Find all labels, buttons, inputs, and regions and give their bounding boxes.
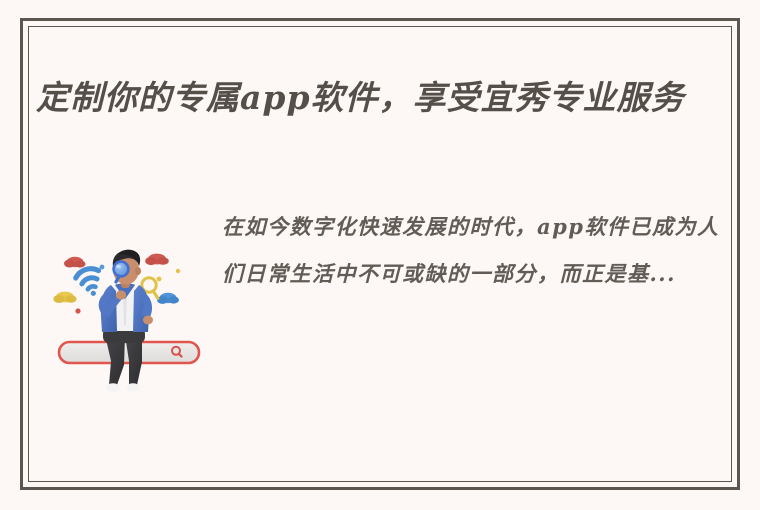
person-figure — [99, 250, 153, 392]
dot-yellow — [157, 277, 162, 282]
article-excerpt: 在如今数字化快速发展的时代，app软件已成为人们日常生活中不可或缺的一部分，而正… — [222, 203, 738, 298]
dot-blue — [100, 265, 105, 270]
shoe-left — [106, 383, 119, 391]
wifi-icon — [74, 266, 105, 300]
cloud-red-icon-2 — [145, 254, 169, 266]
shoe-right — [126, 383, 139, 391]
cloud-red-icon — [64, 257, 86, 268]
cloud-yellow-icon — [53, 292, 76, 303]
article-card: 定制你的专属app软件，享受宜秀专业服务 在如今数字化快速发展的时代，app软件… — [0, 0, 760, 510]
dot-red — [75, 308, 80, 313]
dot-yellow-2 — [176, 269, 180, 273]
hero-illustration — [45, 235, 215, 405]
article-headline: 定制你的专属app软件，享受宜秀专业服务 — [36, 74, 736, 122]
cloud-blue-icon — [157, 293, 179, 304]
